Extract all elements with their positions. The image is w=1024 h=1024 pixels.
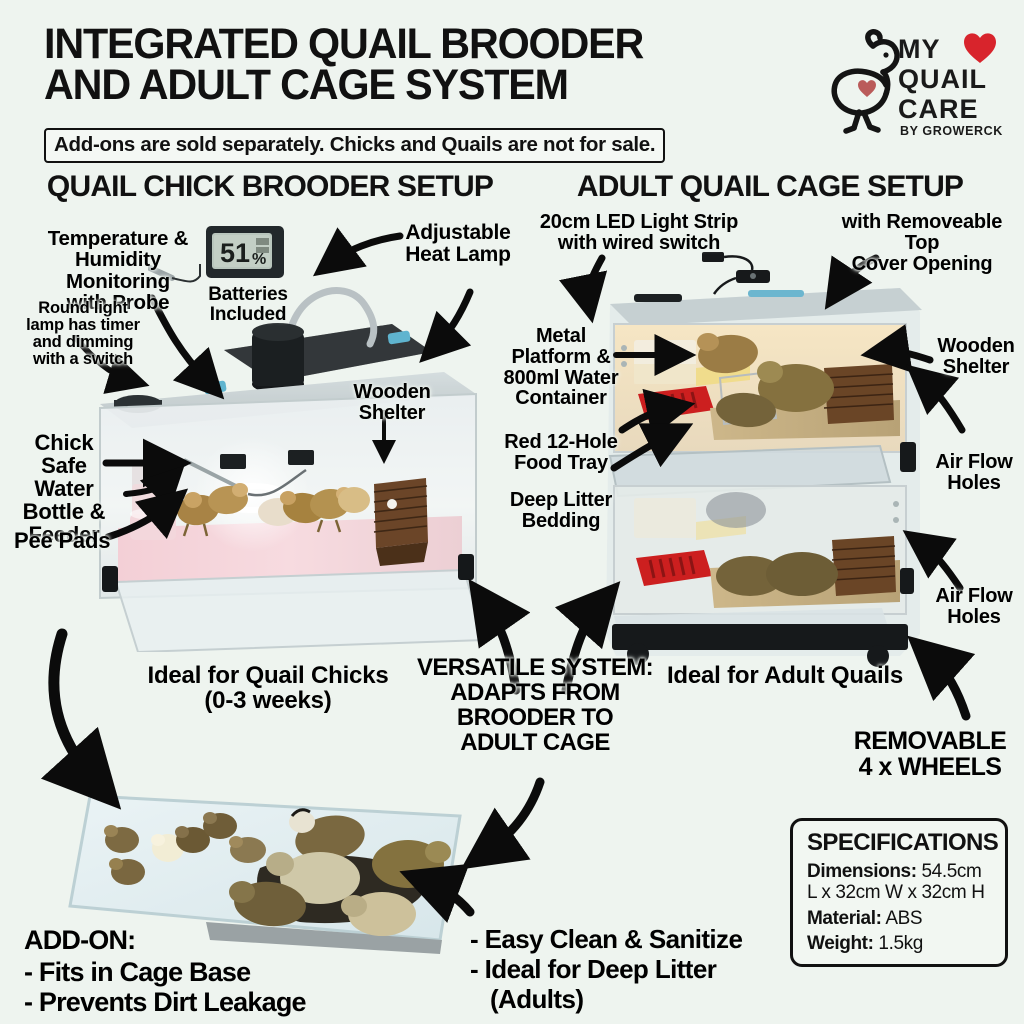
inner-display-2 [288,450,314,465]
logo-word-my: MY [898,34,941,65]
arrow-brooder-to-tray [54,634,96,782]
callout-deep-litter: Deep Litter Bedding [500,490,622,532]
callout-heat-lamp: Adjustable Heat Lamp [398,222,518,266]
section-heading-adult-cage: ADULT QUAIL CAGE SETUP [530,170,1010,204]
spec-material-value: ABS [885,908,922,929]
title-line-2: AND ADULT CAGE SYSTEM [44,65,678,106]
caption-right: Ideal for Adult Quails [660,664,910,689]
digital-thermometer: 51 % [206,226,284,278]
callout-air-flow-1: Air Flow Holes [930,452,1018,494]
specifications-box: SPECIFICATIONS Dimensions: 54.5cm L x 32… [790,818,1008,967]
bird-eye-icon [883,52,888,57]
brooder-front-flap [116,570,484,652]
arrow-wheels [930,656,966,716]
section-heading-brooder: QUAIL CHICK BROODER SETUP [30,170,510,204]
infographic-canvas: INTEGRATED QUAIL BROODER AND ADULT CAGE … [0,0,1024,1024]
callout-food-tray: Red 12-Hole Food Tray [500,432,622,474]
spec-dimensions-label: Dimensions: [807,861,917,882]
addon-bullet-3: - Easy Clean & Sanitize [470,926,742,953]
cage-base [612,624,908,650]
callout-top-cover: with Removeable Top Cover Opening [824,212,1020,274]
wooden-shelter-adult-upper [824,364,894,424]
spec-dimensions-line2: L x 32cm W x 32cm H [807,882,993,903]
logo-word-care: CARE [898,94,979,125]
callout-batteries: Batteries Included [200,285,296,325]
disclaimer-text: Add-ons are sold separately. Chicks and … [54,133,655,157]
wooden-shelter-brooder [374,478,428,566]
water-bottle-and-feeder [130,460,176,540]
addon-bullet-5: (Adults) [490,986,583,1013]
spec-weight-row: Weight: 1.5kg [807,933,993,954]
spec-weight-label: Weight: [807,933,874,954]
brand-logo: MY QUAIL CARE BY GROWERCK [826,28,1016,140]
heart-icon [964,33,996,63]
addon-bullet-4: - Ideal for Deep Litter [470,956,716,983]
disclaimer-box: Add-ons are sold separately. Chicks and … [44,128,665,163]
bird-heart-mark-icon [858,80,876,97]
callout-wooden-shelter-adult: Wooden Shelter [930,336,1022,378]
callout-wooden-shelter-brooder: Wooden Shelter [344,382,440,424]
led-wired-switch [700,248,790,296]
addon-heading: ADD-ON: [24,926,135,954]
callout-wheels: REMOVABLE 4 x WHEELS [840,728,1020,780]
spec-dimensions-row: Dimensions: 54.5cm [807,861,993,882]
callout-air-flow-2: Air Flow Holes [930,586,1018,628]
wooden-shelter-adult-lower [832,536,896,596]
spec-dimensions-value: 54.5cm [922,861,982,882]
addon-bullet-2: - Prevents Dirt Leakage [24,988,306,1016]
logo-word-quail: QUAIL [898,64,987,95]
thermometer-value: 51 [220,238,250,268]
page-title: INTEGRATED QUAIL BROODER AND ADULT CAGE … [44,24,678,107]
spec-heading: SPECIFICATIONS [807,829,993,857]
callout-led-strip: 20cm LED Light Strip with wired switch [536,212,742,254]
spec-material-row: Material: ABS [807,908,993,929]
caption-center-versatile: VERSATILE SYSTEM: ADAPTS FROM BROODER TO… [410,656,660,756]
addon-bullet-1: - Fits in Cage Base [24,958,250,986]
spec-material-label: Material: [807,908,882,929]
caption-left: Ideal for Quail Chicks (0-3 weeks) [128,664,408,714]
spec-weight-value: 1.5kg [878,933,922,954]
inner-display-1 [220,454,246,469]
logo-byline: BY GROWERCK [900,124,1003,138]
callout-metal-platform: Metal Platform & 800ml Water Container [496,326,626,409]
callout-round-light: Round light lamp has timer and dimming w… [18,300,148,369]
callout-pee-pads: Pee Pads [14,530,110,553]
thermometer-unit: % [252,251,266,268]
adult-cage-product-photo [600,268,930,668]
title-line-1: INTEGRATED QUAIL BROODER [44,24,678,65]
